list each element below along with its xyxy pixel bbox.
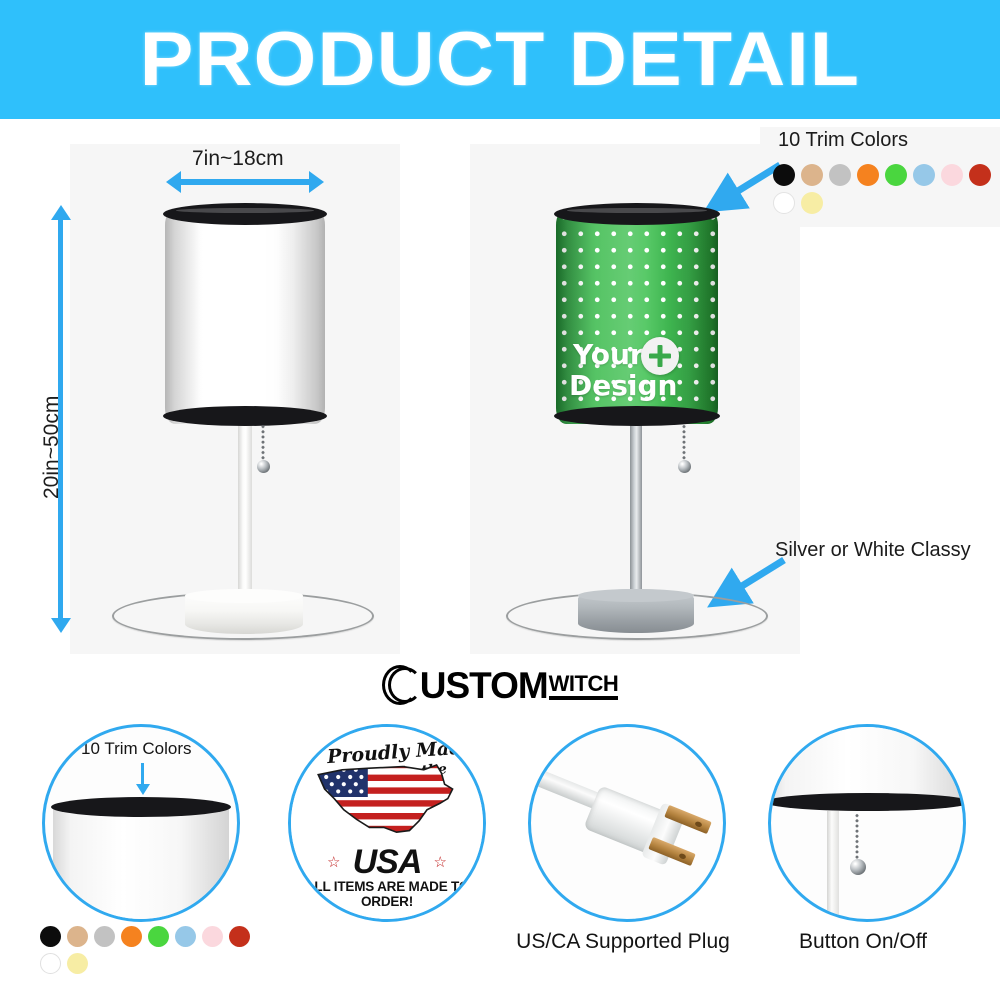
swatch-tan[interactable] (67, 926, 88, 947)
plus-icon[interactable] (641, 337, 679, 375)
usa-map-flag-icon (307, 755, 467, 847)
usa-star-right: ☆ (434, 853, 447, 871)
product-stage: 7in~18cm 20in~50cm Your Design 10 Trim C… (0, 119, 1000, 659)
swatch-red[interactable] (229, 926, 250, 947)
swatch-black[interactable] (773, 164, 795, 186)
height-dimension-label: 20in~50cm (40, 396, 64, 499)
swatch-green[interactable] (885, 164, 907, 186)
brand-name-primary: USTOM (420, 665, 548, 707)
lamp-base (578, 589, 694, 633)
swatch-orange[interactable] (857, 164, 879, 186)
shade-surface (165, 209, 325, 424)
swatch-red[interactable] (969, 164, 991, 186)
panel-switch: Button On/Off (738, 712, 988, 1000)
custom-c-icon (382, 665, 424, 707)
swatch-pink[interactable] (202, 926, 223, 947)
usa-order-note: ALL ITEMS ARE MADE TO ORDER! (291, 879, 483, 909)
swatch-green[interactable] (148, 926, 169, 947)
base-top-face (578, 589, 694, 602)
lamp-base (185, 589, 303, 634)
brand-logo: USTOM WITCH (0, 660, 1000, 712)
shade-trim-top (163, 203, 327, 225)
feature-panels: 10 Trim Colors Proudly Made in the (0, 712, 1000, 1000)
shade-trim-bottom (163, 406, 327, 426)
lamp-pole (630, 419, 642, 609)
panel-trim-colors: 10 Trim Colors (12, 712, 262, 1000)
switch-caption: Button On/Off (738, 930, 988, 954)
trim-colors-inner-label: 10 Trim Colors (81, 739, 192, 759)
plug-closeup (528, 724, 726, 922)
trim-colors-closeup: 10 Trim Colors (42, 724, 240, 922)
shade-trim-bottom (554, 406, 720, 426)
swatch-yellow[interactable] (801, 192, 823, 214)
width-dimension-label: 7in~18cm (192, 147, 284, 171)
mini-lamp-pole (827, 811, 839, 921)
mini-shade-trim (51, 797, 231, 817)
pull-chain[interactable] (855, 813, 859, 865)
pull-chain-ball[interactable] (850, 859, 866, 875)
base-top-face (185, 589, 303, 603)
swatch-black[interactable] (40, 926, 61, 947)
width-dimension-arrow (180, 179, 310, 185)
trim-color-swatches-top (773, 164, 1000, 214)
swatch-yellow[interactable] (67, 953, 88, 974)
swatch-orange[interactable] (121, 926, 142, 947)
plug-caption: US/CA Supported Plug (498, 930, 748, 954)
shade-trim-top (554, 203, 720, 225)
swatch-gray[interactable] (94, 926, 115, 947)
lamp-pole (238, 419, 252, 609)
swatch-gray[interactable] (829, 164, 851, 186)
mini-shade-trim (768, 793, 966, 811)
trim-shine (567, 208, 706, 213)
mini-shade (53, 807, 229, 922)
design-text-line2: Design (569, 372, 677, 400)
panel-plug: US/CA Supported Plug (498, 712, 748, 1000)
trim-colors-inner-arrow (141, 763, 144, 785)
design-text-line1: Your (573, 341, 644, 369)
usa-badge-circle: Proudly Made in the (288, 724, 486, 922)
lamp-shade-blank (165, 209, 325, 424)
usa-big-text: USA (291, 843, 483, 882)
pull-chain-ball[interactable] (678, 460, 691, 473)
pull-chain-ball[interactable] (257, 460, 270, 473)
usa-badge: Proudly Made in the (291, 727, 483, 919)
trim-color-swatches-bottom (40, 926, 270, 974)
header-banner: PRODUCT DETAIL (0, 0, 1000, 119)
brand-name-secondary: WITCH (549, 673, 619, 700)
switch-closeup (768, 724, 966, 922)
swatch-white[interactable] (40, 953, 61, 974)
trim-shine (176, 208, 314, 213)
panel-made-in-usa: Proudly Made in the (258, 712, 508, 1000)
base-finish-callout-label: Silver or White Classy (775, 539, 971, 562)
trim-colors-callout-label: 10 Trim Colors (778, 129, 908, 152)
swatch-light-blue[interactable] (913, 164, 935, 186)
swatch-tan[interactable] (801, 164, 823, 186)
swatch-light-blue[interactable] (175, 926, 196, 947)
swatch-white[interactable] (773, 192, 795, 214)
mini-shade (768, 724, 966, 799)
page-title: PRODUCT DETAIL (140, 22, 860, 98)
swatch-pink[interactable] (941, 164, 963, 186)
